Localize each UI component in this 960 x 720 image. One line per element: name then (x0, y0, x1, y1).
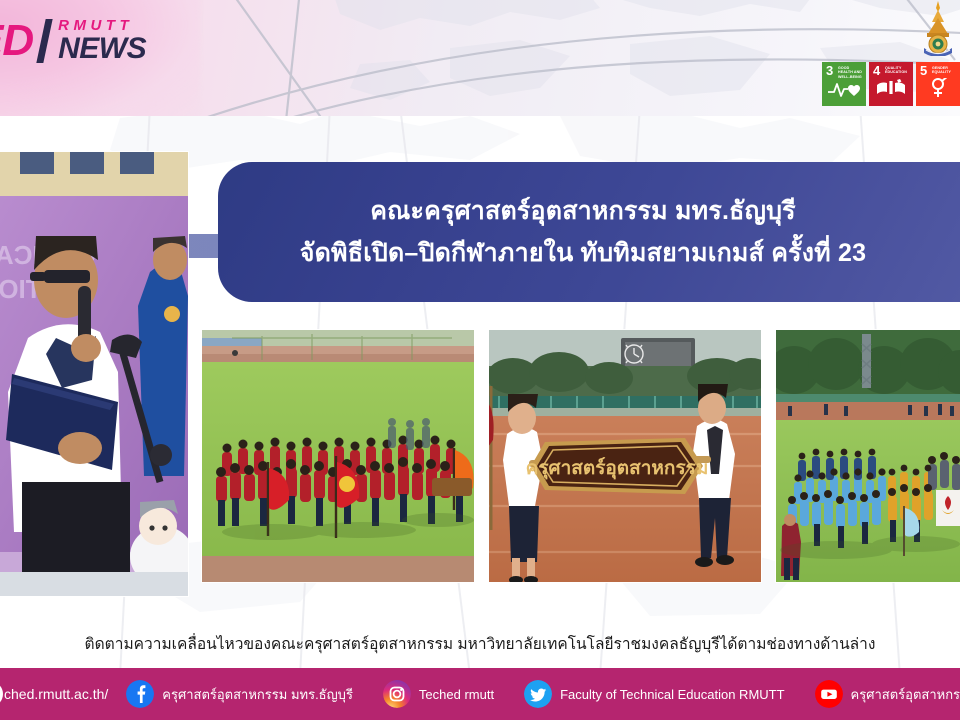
logo-rmutt-text: RMUTT (58, 18, 146, 33)
heartbeat-icon (822, 80, 866, 103)
sdg-number-3: 3 (826, 64, 833, 77)
sdg-number-4: 4 (873, 64, 880, 77)
footer-item-twitter[interactable]: Faculty of Technical Education RMUTT (524, 680, 784, 708)
footer-label-twitter: Faculty of Technical Education RMUTT (560, 687, 784, 702)
social-footer-bar: ched.rmutt.ac.th/ ครุศาสตร์อุตสาหกรรม มท… (0, 668, 960, 720)
footer-label-instagram: Teched rmutt (419, 687, 494, 702)
footer-label-youtube: ครุศาสตร์อุตสาหกรรม มทร.ธัญบุรี (851, 684, 960, 705)
headline-line-2: จัดพิธีเปิด–ปิดกีฬาภายใน ทับทิมสยามเกมส์… (300, 235, 866, 271)
photo-speaker-with-microphone: CHNICA UCATIO Fa Te (0, 152, 188, 596)
photo-banner-bearers-on-track: ครุศาสตร์อุตสาหกรรม (489, 330, 761, 582)
caption-text: ติดตามความเคลื่อนไหวของคณะครุศาสตร์อุตสา… (85, 631, 876, 656)
logo-news-text: NEWS (58, 34, 146, 64)
open-book-pencil-icon (869, 78, 913, 103)
sign-text: ครุศาสตร์อุตสาหกรรม (526, 457, 709, 480)
ted-rmutt-news-logo: ED RMUTT NEWS (0, 12, 146, 70)
gender-equality-icon (916, 78, 960, 103)
photo-blue-team-assembly (776, 330, 960, 582)
instagram-icon (383, 680, 411, 708)
footer-item-website[interactable]: ched.rmutt.ac.th/ (0, 680, 108, 708)
sdg-number-5: 5 (920, 64, 927, 77)
sdg-badge-4: 4 QUALITY EDUCATION (869, 62, 913, 106)
facebook-icon (126, 680, 154, 708)
caption-bar: ติดตามความเคลื่อนไหวของคณะครุศาสตร์อุตสา… (0, 618, 960, 668)
footer-item-facebook[interactable]: ครุศาสตร์อุตสาหกรรม มทร.ธัญบุรี (126, 680, 353, 708)
logo-divider-bar (36, 19, 52, 63)
headline-line-1: คณะครุศาสตร์อุตสาหกรรม มทร.ธัญบุรี (370, 193, 796, 229)
sdg-goal-badges: 3 GOOD HEALTH AND WELL-BEING 4 QUALITY E… (822, 62, 960, 106)
sdg-label-4: QUALITY EDUCATION (885, 66, 911, 75)
rmutt-royal-crest-icon (918, 0, 958, 56)
news-graphic-page: ED RMUTT NEWS 3 GOOD H (0, 0, 960, 720)
sdg-badge-5: 5 GENDER EQUALITY (916, 62, 960, 106)
page-header: ED RMUTT NEWS 3 GOOD H (0, 0, 960, 116)
youtube-icon (815, 680, 843, 708)
twitter-icon (524, 680, 552, 708)
footer-item-youtube[interactable]: ครุศาสตร์อุตสาหกรรม มทร.ธัญบุรี (815, 680, 960, 708)
footer-item-instagram[interactable]: Teched rmutt (383, 680, 494, 708)
sdg-badge-3: 3 GOOD HEALTH AND WELL-BEING (822, 62, 866, 106)
logo-ted-text: ED (0, 19, 33, 63)
logo-word-stack: RMUTT NEWS (58, 18, 146, 64)
photo-red-team-parade (202, 330, 474, 582)
sdg-label-3: GOOD HEALTH AND WELL-BEING (838, 66, 864, 79)
headline-banner: คณะครุศาสตร์อุตสาหกรรม มทร.ธัญบุรี จัดพิ… (218, 162, 960, 302)
footer-label-website: ched.rmutt.ac.th/ (4, 686, 108, 702)
sdg-label-5: GENDER EQUALITY (932, 66, 958, 75)
footer-label-facebook: ครุศาสตร์อุตสาหกรรม มทร.ธัญบุรี (162, 684, 353, 705)
